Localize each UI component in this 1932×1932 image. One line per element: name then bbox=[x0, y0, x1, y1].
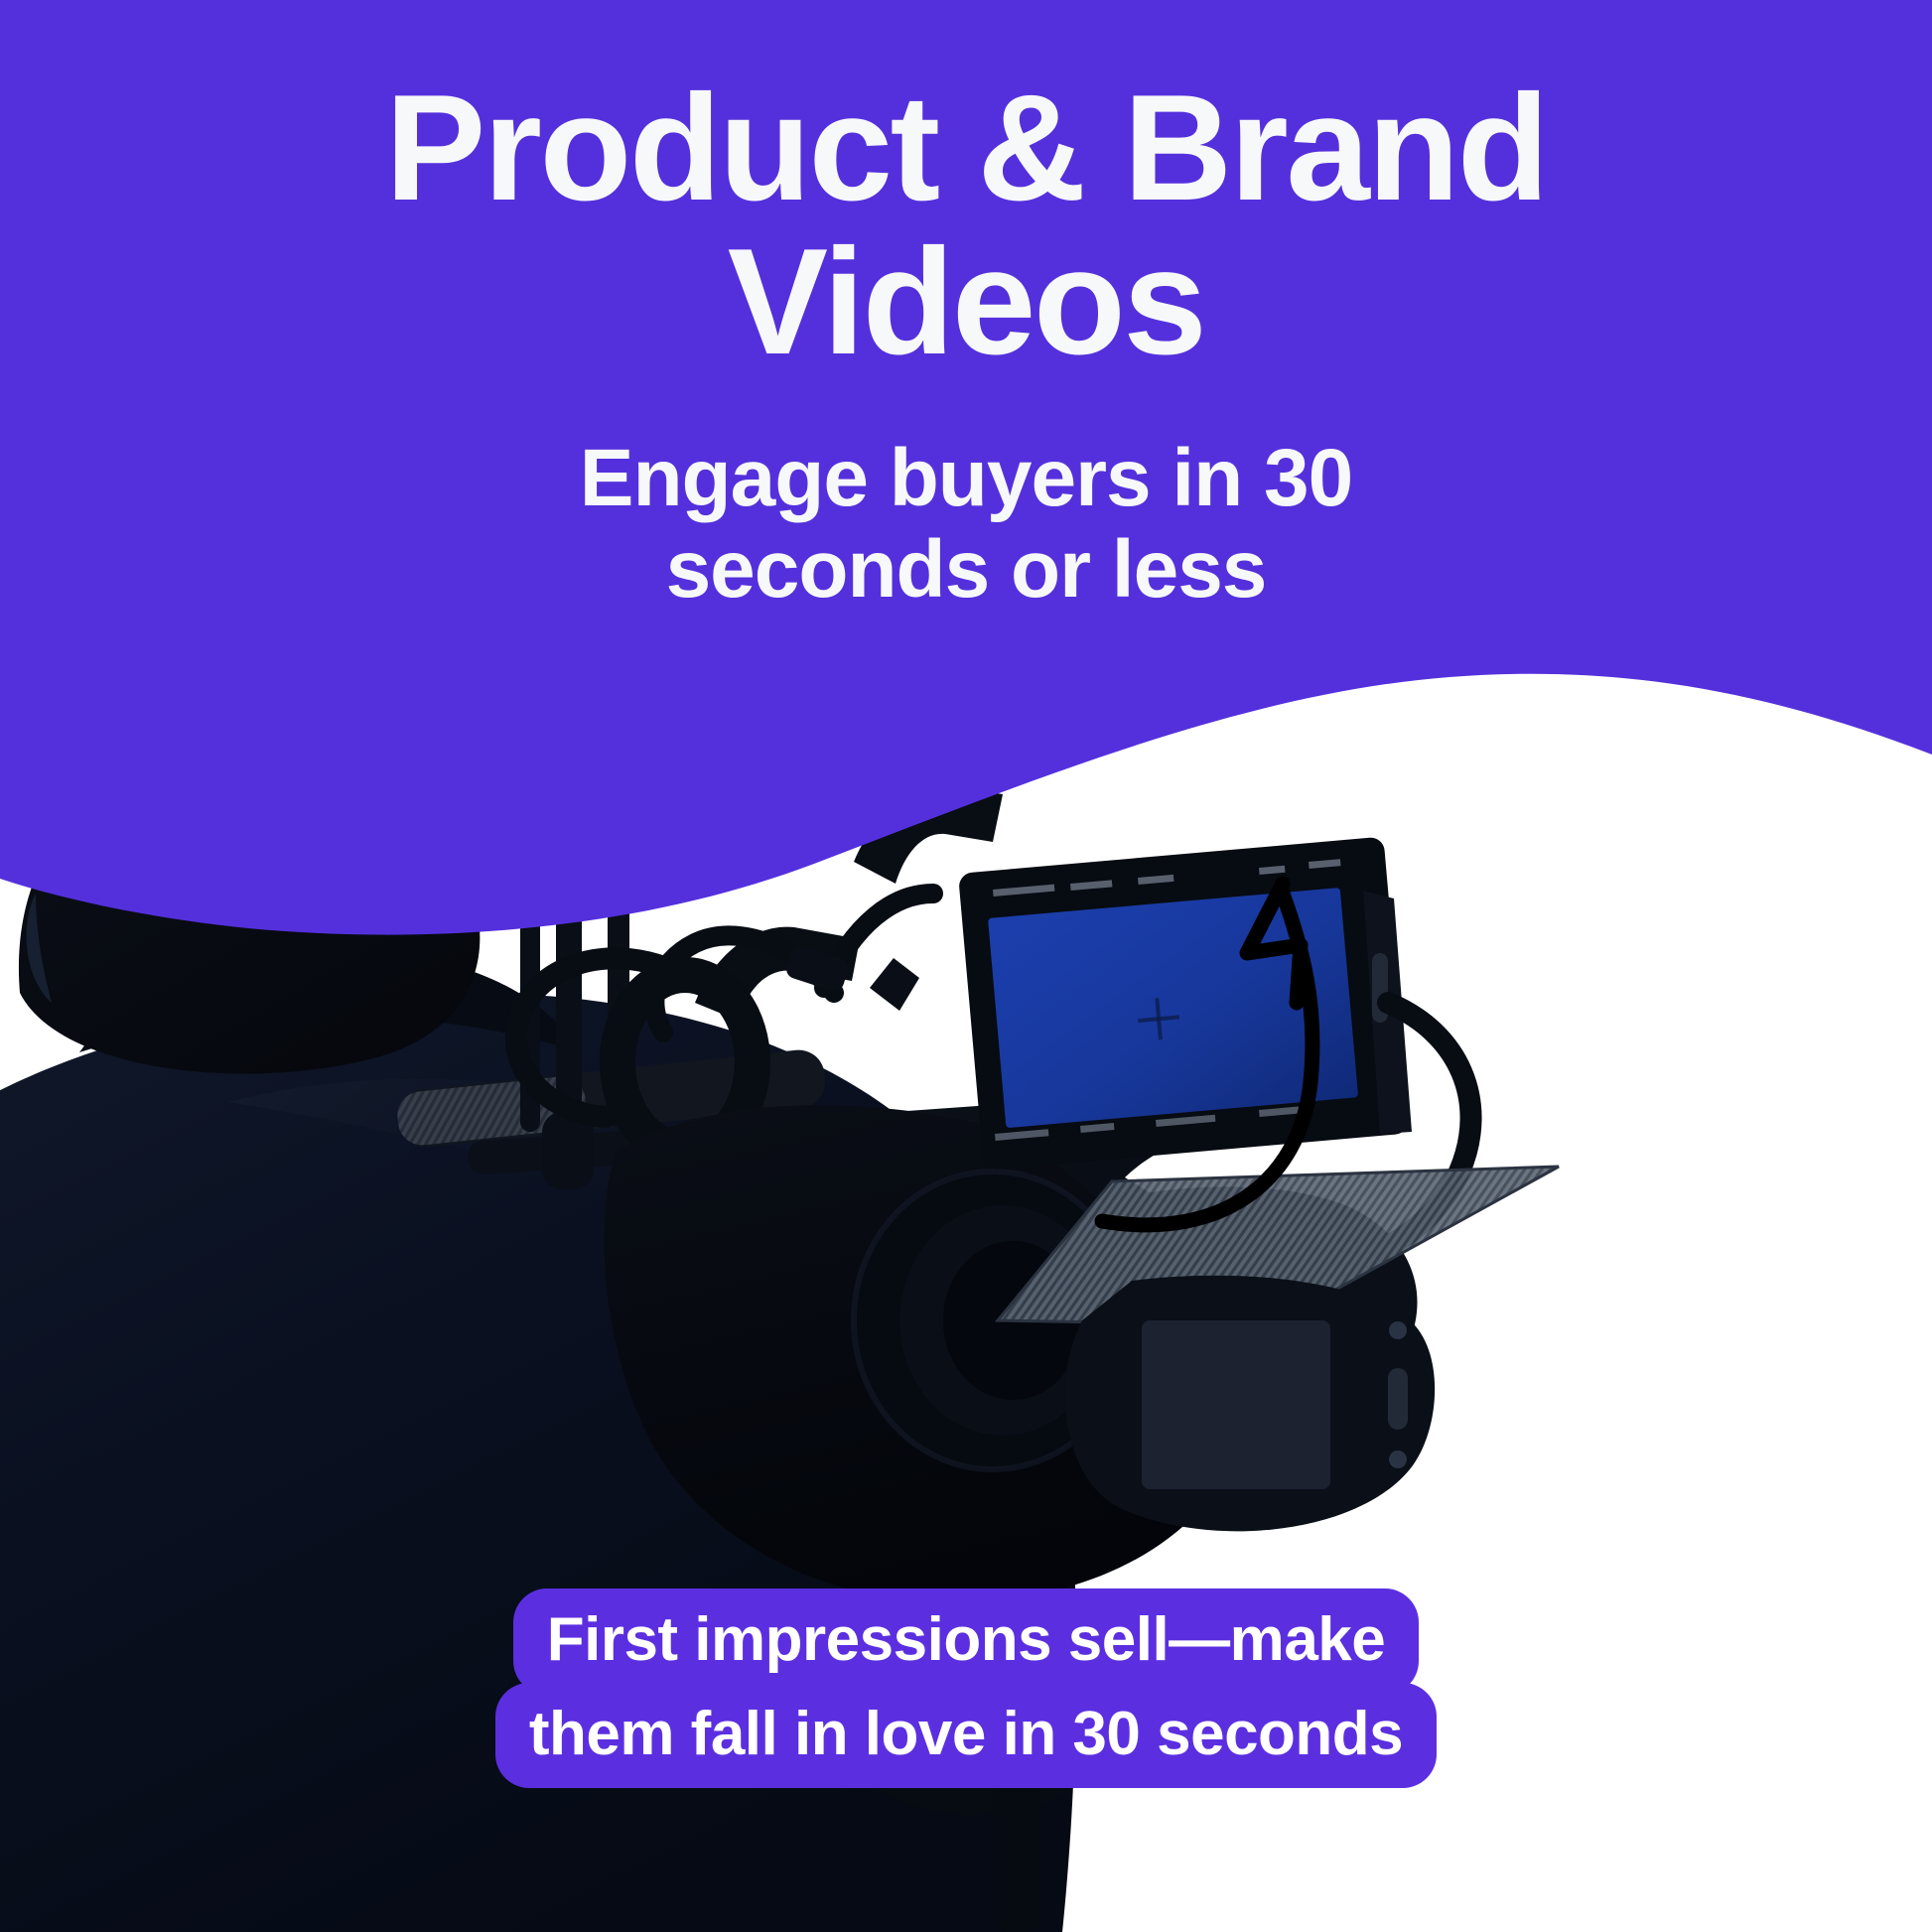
secondary-monitor-screw-1 bbox=[1389, 1321, 1407, 1339]
secondary-monitor-screen bbox=[1142, 1320, 1330, 1489]
title-line-1: Product & Brand bbox=[385, 64, 1547, 232]
poster-canvas: Product & Brand Videos Engage buyers in … bbox=[0, 0, 1932, 1932]
page-title: Product & Brand Videos bbox=[0, 71, 1932, 379]
rig-lower-post bbox=[993, 1777, 1040, 1932]
page-subtitle: Engage buyers in 30 seconds or less bbox=[380, 433, 1552, 616]
title-line-2: Videos bbox=[728, 217, 1205, 386]
subtitle-line-2: seconds or less bbox=[666, 524, 1267, 615]
secondary-monitor-buttons bbox=[1388, 1368, 1408, 1430]
secondary-monitor bbox=[1065, 1276, 1435, 1532]
secondary-monitor-screw-2 bbox=[1389, 1450, 1407, 1468]
headline-block: Product & Brand Videos Engage buyers in … bbox=[0, 0, 1932, 616]
subtitle-line-1: Engage buyers in 30 bbox=[580, 433, 1353, 523]
